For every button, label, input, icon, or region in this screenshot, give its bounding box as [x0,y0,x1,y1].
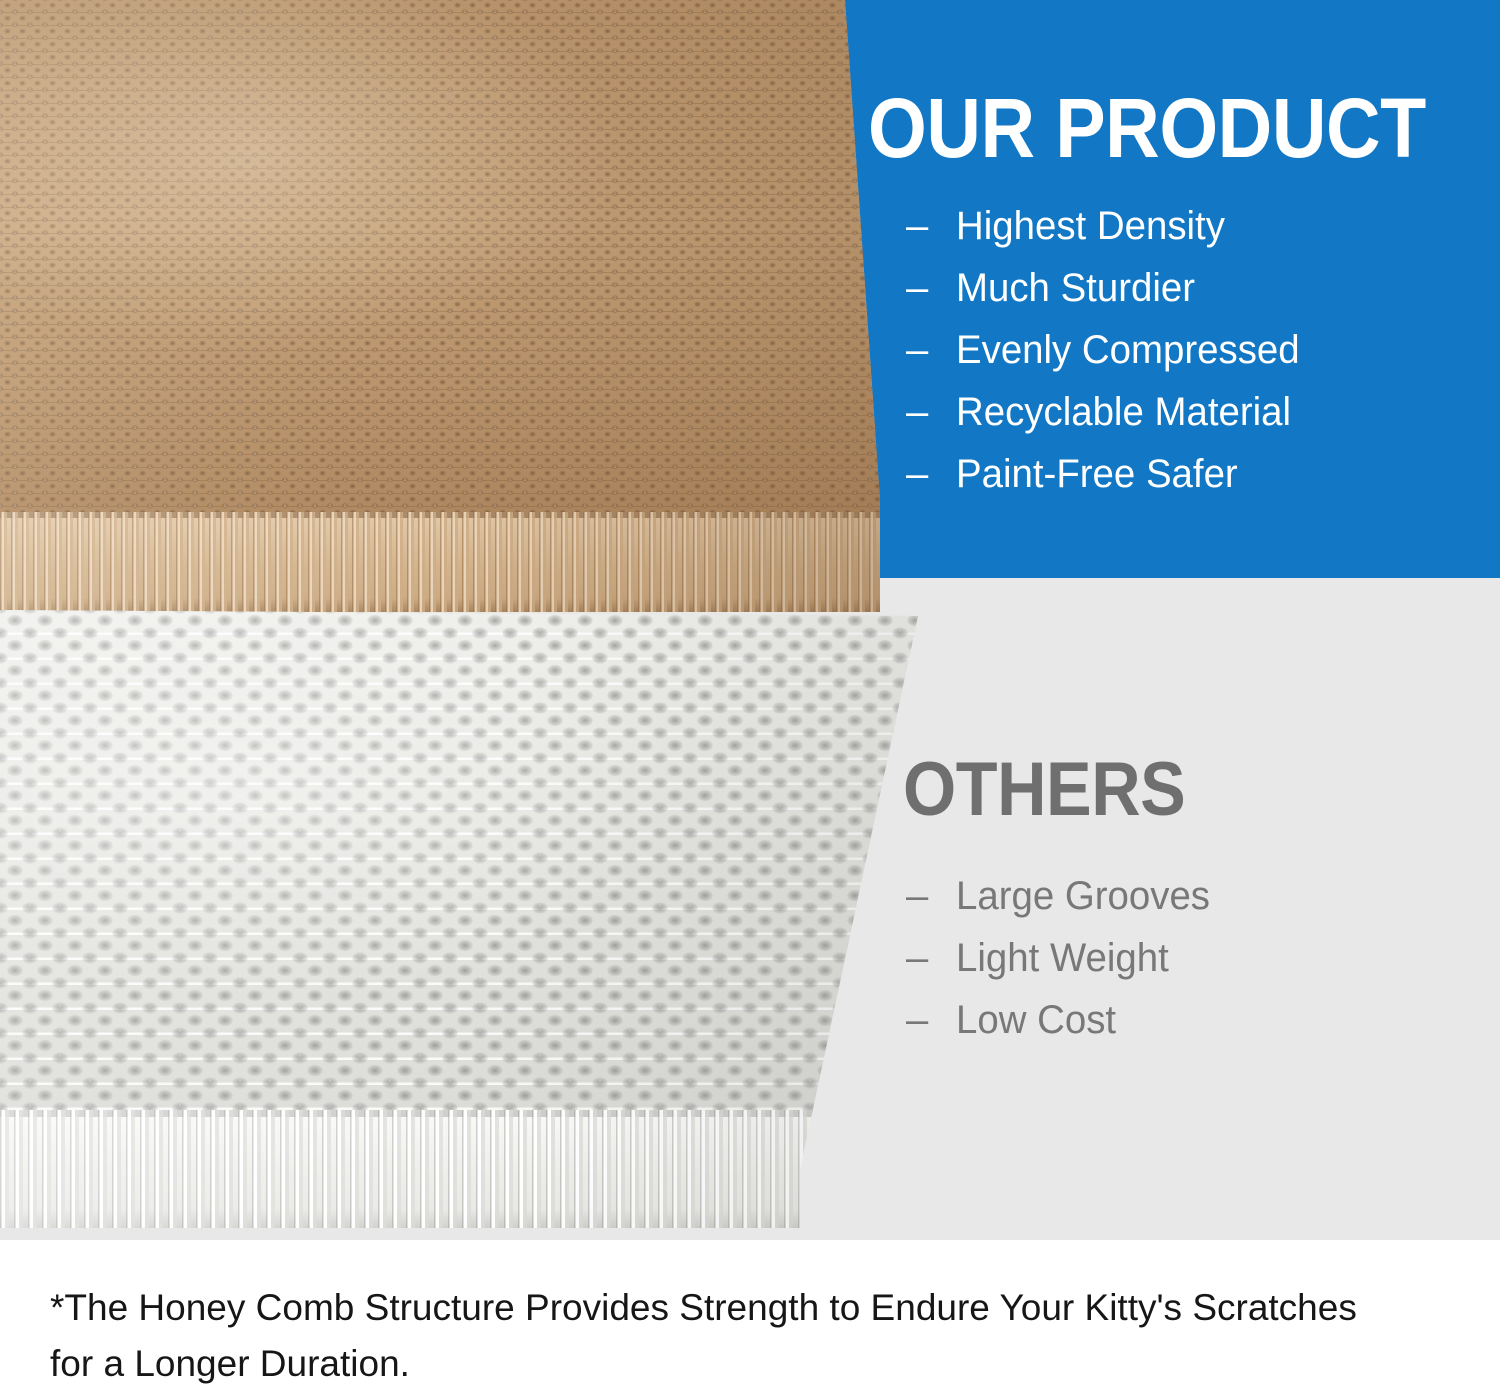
feature-item: – Much Sturdier [906,268,1314,330]
feature-label: Much Sturdier [956,268,1195,308]
feature-label: Recyclable Material [956,392,1291,432]
feature-item: – Low Cost [906,1000,1221,1062]
kraft-fluted-edge [0,512,900,612]
kraft-honeycomb-board-image [0,0,900,620]
dash-bullet-icon: – [906,1000,956,1040]
feature-item: – Recyclable Material [906,392,1314,454]
feature-item: – Large Grooves [906,876,1221,938]
footnote-caption: *The Honey Comb Structure Provides Stren… [50,1280,1370,1392]
feature-label: Large Grooves [956,876,1210,916]
others-heading: OTHERS [903,752,1185,828]
feature-label: Low Cost [956,1000,1116,1040]
our-product-feature-list: – Highest Density – Much Sturdier – Even… [906,206,1314,516]
feature-item: – Evenly Compressed [906,330,1314,392]
feature-item: – Paint-Free Safer [906,454,1314,516]
feature-item: – Highest Density [906,206,1314,268]
dash-bullet-icon: – [906,876,956,916]
feature-label: Paint-Free Safer [956,454,1238,494]
dash-bullet-icon: – [906,268,956,308]
dash-bullet-icon: – [906,330,956,370]
others-feature-list: – Large Grooves – Light Weight – Low Cos… [906,876,1221,1062]
dash-bullet-icon: – [906,206,956,246]
dash-bullet-icon: – [906,454,956,494]
dash-bullet-icon: – [906,392,956,432]
dash-bullet-icon: – [906,938,956,978]
white-honeycomb-face [0,610,960,1110]
kraft-honeycomb-face [0,0,900,512]
feature-label: Light Weight [956,938,1169,978]
feature-label: Highest Density [956,206,1225,246]
feature-label: Evenly Compressed [956,330,1300,370]
our-product-heading: OUR PRODUCT [868,86,1426,170]
feature-item: – Light Weight [906,938,1221,1000]
infographic-canvas: OUR PRODUCT – Highest Density – Much Stu… [0,0,1500,1392]
